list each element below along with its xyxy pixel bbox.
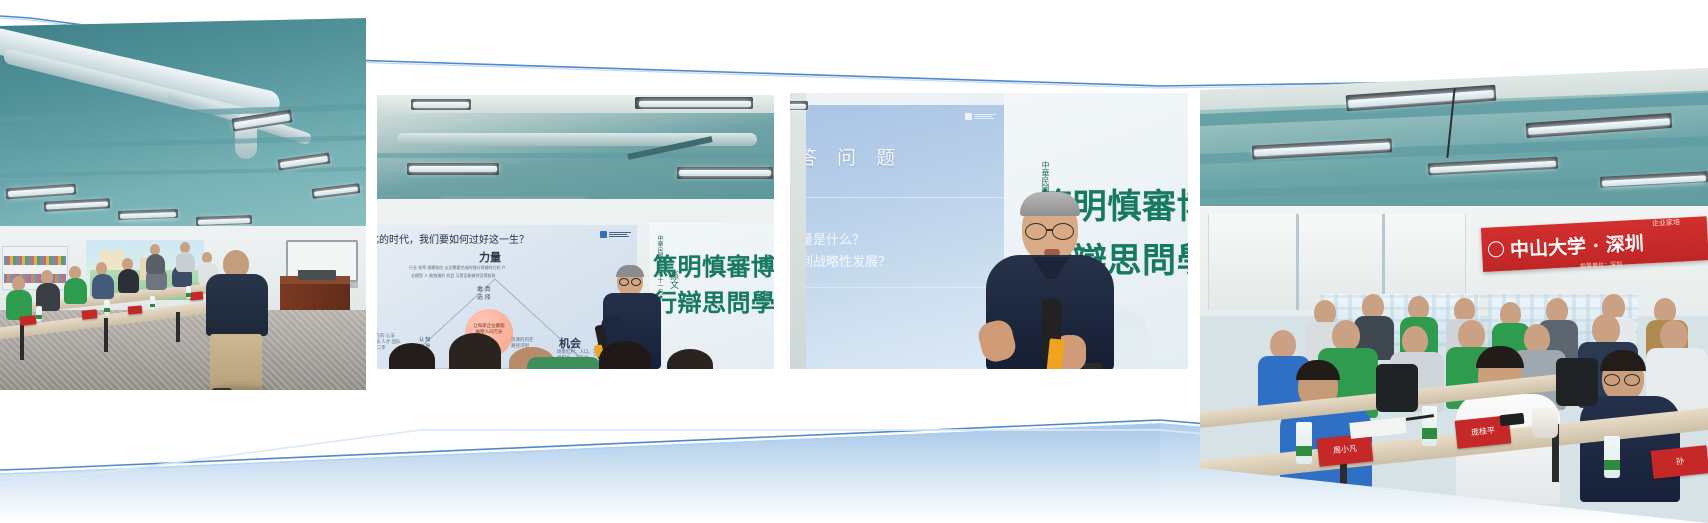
audience-head <box>389 343 435 369</box>
gallery-panel-classroom-wide-shot[interactable] <box>0 18 366 390</box>
speaker-shirt <box>206 274 268 336</box>
light-tube-1 <box>413 102 469 108</box>
logo-mark-icon <box>965 113 972 120</box>
event-banner-top-note: 企业家培 <box>1652 217 1680 228</box>
event-banner-title: 中山大学 · 深圳 <box>1509 228 1644 262</box>
slide-divider-lower <box>804 287 1004 288</box>
water-bottle <box>1296 422 1312 464</box>
audience-head <box>449 333 501 369</box>
gallery-stage: 出口 篤明慎審博 行辯思問學 中華民國十五年十一月 孫文 化的时代，我们要如何过… <box>0 0 1708 523</box>
calligraphy-side-left: 孫文 <box>667 271 680 289</box>
calligraphy-side-right: 中華民國十五年十一月 <box>655 235 664 295</box>
light-tube-3 <box>409 166 497 172</box>
table-nameplate <box>190 291 204 300</box>
gallery-panel-audience-shot[interactable]: 中山大学 · 深圳 企业家培 指导单位：深圳 <box>1200 68 1708 523</box>
logo-bars-icon <box>974 114 996 119</box>
slide-question-2: 到战略性发展？ <box>804 251 891 270</box>
slide-divider <box>804 197 1004 198</box>
water-bottle <box>186 286 191 299</box>
podium-monitor <box>298 270 336 280</box>
speaker-shadow <box>208 386 270 390</box>
light-tube-4 <box>679 170 771 176</box>
presentation-slide: 答 问 题 量是什么？ 到战略性发展？ <box>804 105 1004 369</box>
window-mullion <box>1296 214 1299 310</box>
microphone-tip <box>1046 338 1065 369</box>
water-bottle <box>1422 406 1437 446</box>
logo-bars-icon <box>609 232 631 237</box>
speaker-trousers <box>210 334 262 390</box>
slide-body-line-1: 行业 效率 规模效应 以及需要完成的细分领域的红利 户 <box>409 265 505 271</box>
logo-mark-icon <box>600 231 607 238</box>
speaker-closeup-scene: 答 问 题 量是什么？ 到战略性发展？ 篤明慎審博 行辯思問學 中華民國 <box>790 93 1188 369</box>
speaker-watch <box>1084 363 1102 369</box>
presenter-glasses-right <box>631 278 641 286</box>
ceiling-beam <box>377 153 774 158</box>
water-bottle <box>104 300 110 315</box>
desk-leg-2 <box>104 318 108 352</box>
light-tube-2 <box>639 101 751 107</box>
speaker-glasses-left <box>1025 223 1047 240</box>
slide-headline: 答 问 题 <box>804 143 902 170</box>
desk-leg-3 <box>176 312 180 342</box>
speaker-slide-scene: 出口 篤明慎審博 行辯思問學 中華民國十五年十一月 孫文 化的时代，我们要如何过… <box>377 95 774 369</box>
water-bottle <box>150 296 155 310</box>
speaker-hair <box>1020 192 1080 216</box>
chair-back <box>1556 358 1598 406</box>
chair-back <box>1376 364 1418 412</box>
gallery-panel-speaker-closeup[interactable]: 答 问 题 量是什么？ 到战略性发展？ 篤明慎審博 行辯思問學 中華民國 <box>790 93 1188 369</box>
audience-scene: 中山大学 · 深圳 企业家培 指导单位：深圳 <box>1200 68 1708 523</box>
paper-cup <box>1532 408 1558 438</box>
desk-leg-1 <box>20 324 24 360</box>
slide-logo <box>965 113 996 120</box>
gallery-panel-speaker-with-slide[interactable]: 出口 篤明慎審博 行辯思問學 中華民國十五年十一月 孫文 化的时代，我们要如何过… <box>377 95 774 369</box>
audience-shoulders <box>527 357 601 369</box>
table-nameplate <box>128 305 143 314</box>
slide-node-mid: 敢 真 选 择 <box>477 287 491 302</box>
water-bottle <box>1604 436 1620 478</box>
speaker-glasses-bridge <box>1046 229 1053 231</box>
speaker-glasses-right <box>1052 223 1074 240</box>
participant-glasses-right <box>1624 374 1640 386</box>
wall-edge <box>790 93 806 369</box>
slide-logo <box>600 231 631 238</box>
presenter-glasses-left <box>619 278 629 286</box>
slide-headline: 化的时代，我们要如何过好这一生？ <box>377 231 529 246</box>
classroom-wide-scene <box>0 18 366 390</box>
participant-glasses-left <box>1604 374 1620 386</box>
light-tube <box>790 104 806 109</box>
table-nameplate <box>82 309 98 320</box>
slide-node-top: 力量 <box>479 249 501 265</box>
books-row-1 <box>4 256 66 265</box>
water-bottle <box>36 306 42 322</box>
university-seal-icon <box>1488 241 1505 258</box>
table-nameplate <box>20 315 37 326</box>
slide-question-1: 量是什么？ <box>804 229 865 248</box>
